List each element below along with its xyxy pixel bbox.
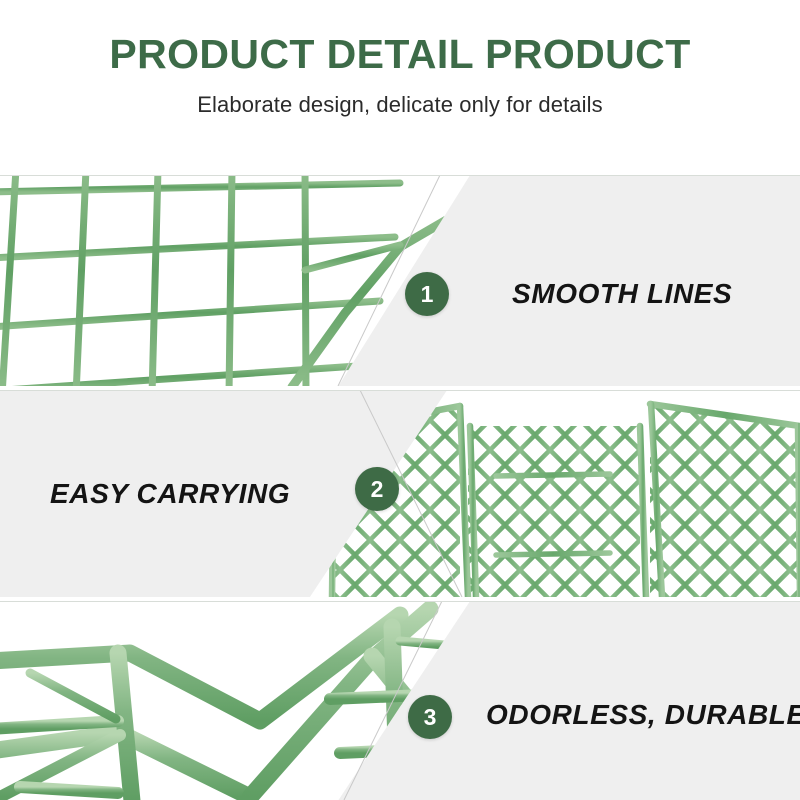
square-grid-mesh-graphic <box>0 175 470 386</box>
feature-3-photo <box>0 601 470 800</box>
page-subtitle: Elaborate design, delicate only for deta… <box>197 92 602 118</box>
feature-1-photo <box>0 175 470 386</box>
panel-divider-rule <box>0 601 800 602</box>
panel-divider-rule <box>0 390 800 391</box>
header: PRODUCT DETAIL PRODUCT Elaborate design,… <box>0 0 800 172</box>
feature-2-number-badge: 2 <box>355 467 399 511</box>
feature-2-label: EASY CARRYING <box>50 478 290 510</box>
feature-3-number-badge: 3 <box>408 695 452 739</box>
product-detail-infographic: PRODUCT DETAIL PRODUCT Elaborate design,… <box>0 0 800 800</box>
feature-1-number-badge: 1 <box>405 272 449 316</box>
page-title: PRODUCT DETAIL PRODUCT <box>109 33 690 76</box>
panel-divider-rule <box>0 175 800 176</box>
feature-3-label: ODORLESS, DURABLE <box>486 699 800 731</box>
feature-1-label: SMOOTH LINES <box>512 278 732 310</box>
plastic-strut-macro-graphic <box>0 601 470 800</box>
